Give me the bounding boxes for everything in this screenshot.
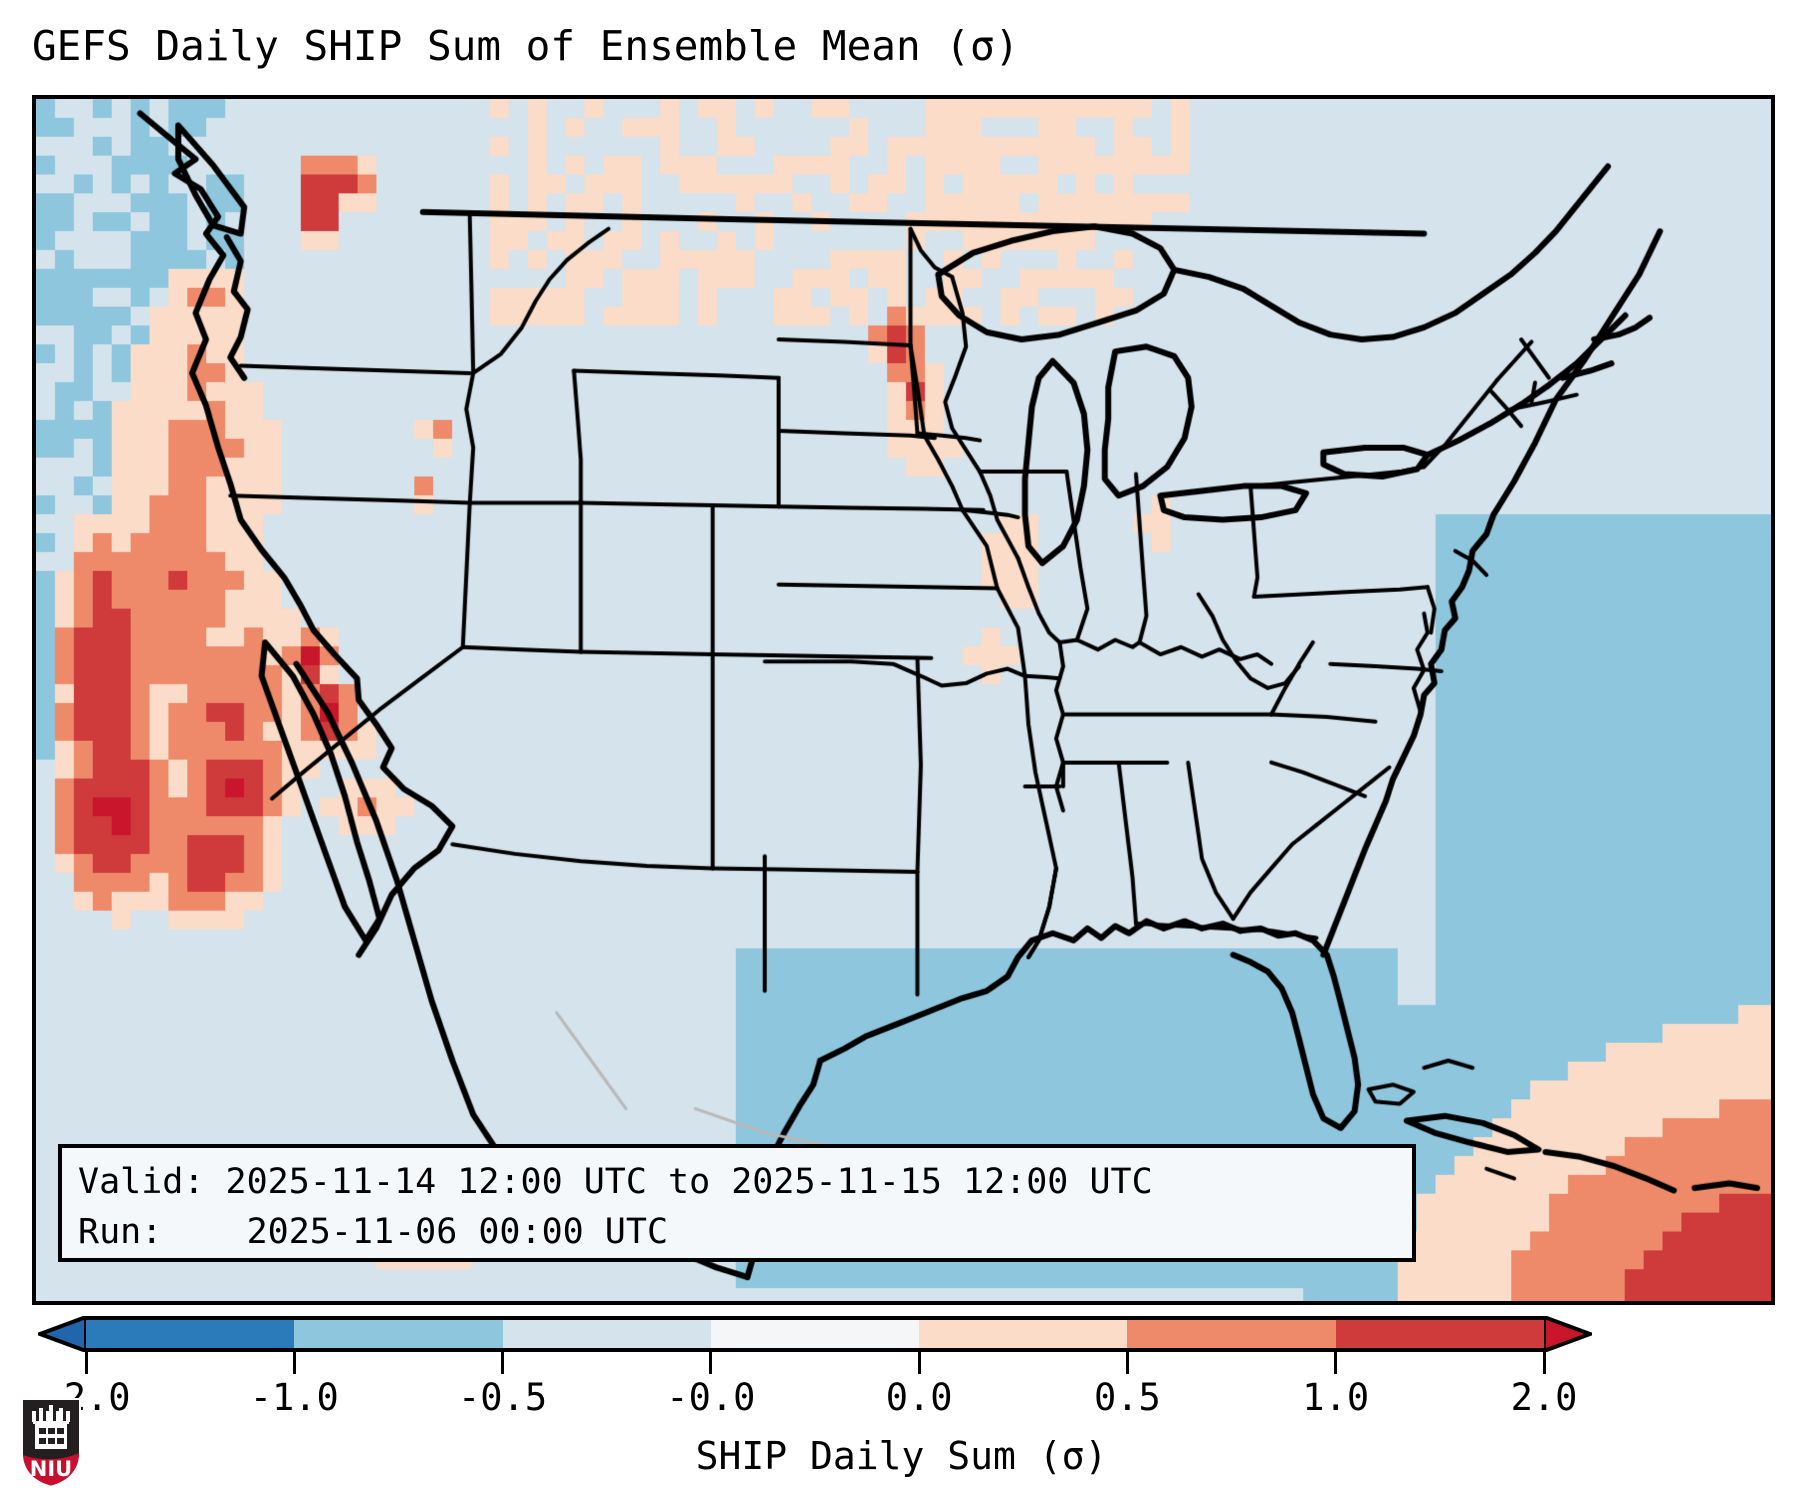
colorbar-extend-left-arrow (38, 1316, 86, 1352)
colorbar-tick-marks (86, 1352, 1544, 1374)
valid-time-line: Valid: 2025-11-14 12:00 UTC to 2025-11-1… (78, 1157, 1396, 1207)
colorbar-tick-2 (501, 1352, 504, 1374)
colorbar-tick-label-4: 0.0 (886, 1376, 953, 1420)
colorbar-tick-labels: -2.0-1.0-0.5-0.00.00.51.02.0 (0, 1376, 1803, 1426)
colorbar-segment-6 (1336, 1320, 1544, 1348)
niu-logo-text: NIU (30, 1457, 72, 1481)
colorbar-tick-label-2: -0.5 (458, 1376, 547, 1420)
map-axes[interactable] (32, 95, 1775, 1305)
colorbar-segment-0 (86, 1320, 294, 1348)
colorbar-tick-4 (918, 1352, 921, 1374)
colorbar-tick-5 (1126, 1352, 1129, 1374)
colorbar-segment-4 (919, 1320, 1127, 1348)
run-time-line: Run: 2025-11-06 00:00 UTC (78, 1207, 1396, 1257)
colorbar-segment-1 (294, 1320, 502, 1348)
colorbar-tick-label-1: -1.0 (250, 1376, 339, 1420)
colorbar-segment-2 (503, 1320, 711, 1348)
colorbar[interactable] (0, 1316, 1803, 1376)
colorbar-tick-label-7: 2.0 (1511, 1376, 1578, 1420)
colorbar-tick-label-6: 1.0 (1302, 1376, 1369, 1420)
page-title: GEFS Daily SHIP Sum of Ensemble Mean (σ) (32, 18, 1019, 74)
colorbar-axis-label: SHIP Daily Sum (σ) (0, 1432, 1803, 1480)
niu-logo: NIU (18, 1395, 84, 1491)
colorbar-tick-7 (1543, 1352, 1546, 1374)
info-box: Valid: 2025-11-14 12:00 UTC to 2025-11-1… (58, 1144, 1416, 1262)
colorbar-segment-3 (711, 1320, 919, 1348)
figure-root: GEFS Daily SHIP Sum of Ensemble Mean (σ)… (0, 0, 1803, 1506)
colorbar-tick-6 (1334, 1352, 1337, 1374)
colorbar-extend-right-arrow (1544, 1316, 1592, 1352)
colorbar-tick-label-3: -0.0 (666, 1376, 755, 1420)
colorbar-tick-1 (293, 1352, 296, 1374)
colorbar-tick-3 (709, 1352, 712, 1374)
colorbar-tick-label-5: 0.5 (1094, 1376, 1161, 1420)
colorbar-segments[interactable] (86, 1316, 1544, 1352)
colorbar-tick-0 (85, 1352, 88, 1374)
ship-heatmap-canvas[interactable] (36, 99, 1771, 1301)
colorbar-segment-5 (1127, 1320, 1335, 1348)
